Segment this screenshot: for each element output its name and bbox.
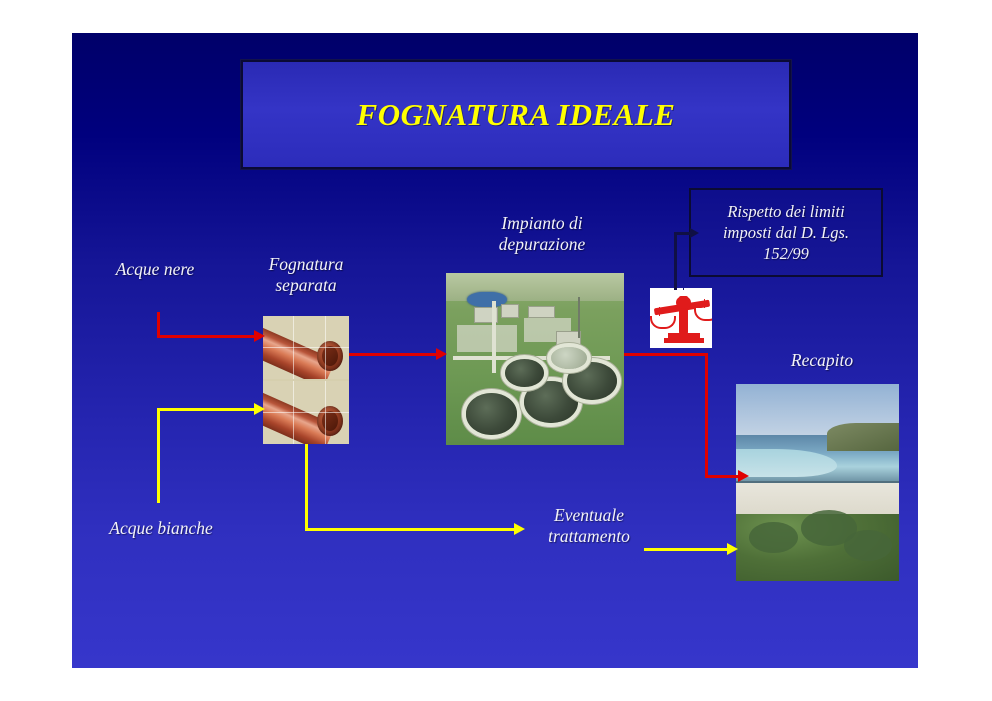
- pipe-lower: [263, 381, 349, 444]
- arrowhead-limits-note: [690, 228, 699, 238]
- connector-pipes-to-plant: [349, 353, 439, 356]
- arrowhead-pipes-to-plant: [436, 348, 447, 360]
- slide-title-box: FOGNATURA IDEALE: [241, 60, 791, 169]
- label-impianto-depurazione: Impianto di depurazione: [467, 213, 617, 255]
- connector-scales-up: [674, 232, 677, 290]
- slide-canvas: FOGNATURA IDEALE: [72, 33, 918, 668]
- limits-note-text: Rispetto dei limiti imposti dal D. Lgs. …: [723, 201, 849, 264]
- connector-trattamento-to-recapito: [644, 548, 730, 551]
- limits-note-box: Rispetto dei limiti imposti dal D. Lgs. …: [689, 188, 883, 277]
- balance-scales-icon: [650, 288, 712, 348]
- label-acque-bianche: Acque bianche: [76, 518, 246, 539]
- connector-acque-bianche-horizontal: [157, 408, 257, 411]
- arrowhead-acque-bianche: [254, 403, 265, 415]
- label-recapito: Recapito: [767, 350, 877, 371]
- connector-plant-right: [624, 353, 708, 356]
- wastewater-treatment-plant-photo: [446, 273, 624, 445]
- pipe-upper: [263, 316, 349, 379]
- coastal-beach-photo: [736, 384, 899, 581]
- connector-plant-down: [705, 353, 708, 477]
- label-fognatura-separata: Fognatura separata: [240, 254, 372, 296]
- sewer-pipes-photo: [263, 316, 349, 444]
- connector-acque-nere-horizontal: [157, 335, 257, 338]
- connector-acque-bianche-vertical: [157, 408, 160, 503]
- connector-pipes-down-vertical: [305, 444, 308, 531]
- arrowhead-trattamento-to-recapito: [727, 543, 738, 555]
- connector-pipes-to-trattamento: [305, 528, 517, 531]
- page-title: FOGNATURA IDEALE: [357, 97, 676, 133]
- arrowhead-acque-nere: [254, 330, 265, 342]
- label-eventuale-trattamento: Eventuale trattamento: [524, 505, 654, 547]
- arrowhead-recapito: [738, 470, 749, 482]
- label-acque-nere: Acque nere: [90, 259, 220, 280]
